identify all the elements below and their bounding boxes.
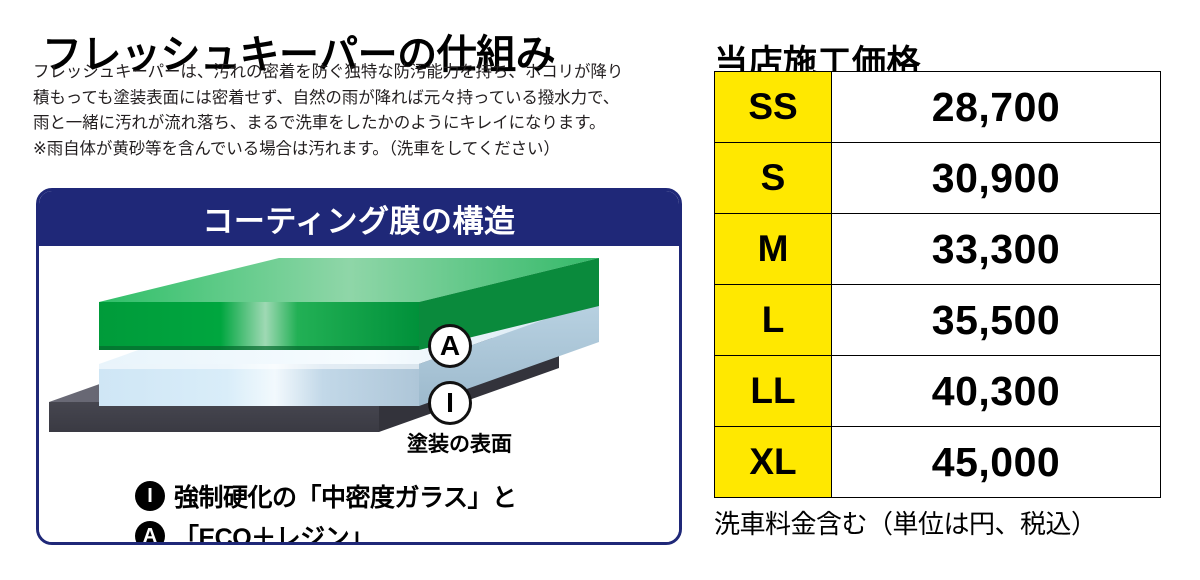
intro-line: 雨と一緒に汚れが流れ落ち、まるで洗車をしたかのようにキレイになります。 — [33, 111, 693, 137]
table-row: M 33,300 — [715, 214, 1161, 285]
table-row: SS 28,700 — [715, 72, 1161, 143]
size-cell: M — [715, 214, 832, 285]
price-cell: 45,000 — [832, 427, 1161, 498]
size-cell: L — [715, 285, 832, 356]
right-column: 当店施工価格 SS 28,700 S 30,900 M 33,300 L 35,… — [700, 0, 1200, 580]
price-cell: 30,900 — [832, 143, 1161, 214]
layer-badge-a: A — [428, 324, 472, 368]
base-surface-label: 塗装の表面 — [407, 428, 512, 458]
left-column: フレッシュキーパーの仕組み フレッシュキーパーは、汚れの密着を防ぐ独特な防汚能力… — [0, 0, 700, 580]
size-cell: SS — [715, 72, 832, 143]
intro-paragraph: フレッシュキーパーは、汚れの密着を防ぐ独特な防汚能力を持ち、ホコリが降り 積もっ… — [33, 60, 693, 162]
legend: I 強制硬化の「中密度ガラス」と A 「ECO＋レジン」 — [135, 478, 675, 545]
legend-item-label: 強制硬化の「中密度ガラス」と — [174, 478, 517, 514]
price-cell: 40,300 — [832, 356, 1161, 427]
legend-item: I 強制硬化の「中密度ガラス」と — [135, 478, 675, 514]
price-cell: 28,700 — [832, 72, 1161, 143]
price-cell: 35,500 — [832, 285, 1161, 356]
size-cell: LL — [715, 356, 832, 427]
legend-item-label: 「ECO＋レジン」 — [174, 518, 374, 545]
table-row: L 35,500 — [715, 285, 1161, 356]
intro-line: ※雨自体が黄砂等を含んでいる場合は汚れます。（洗車をしてください） — [33, 137, 693, 163]
intro-line: 積もっても塗装表面には密着せず、自然の雨が降れば元々持っている撥水力で、 — [33, 86, 693, 112]
size-cell: S — [715, 143, 832, 214]
panel-header: コーティング膜の構造 — [39, 191, 679, 246]
legend-item: A 「ECO＋レジン」 — [135, 518, 675, 545]
size-cell: XL — [715, 427, 832, 498]
coating-structure-panel: コーティング膜の構造 — [36, 188, 682, 545]
table-row: LL 40,300 — [715, 356, 1161, 427]
table-row: S 30,900 — [715, 143, 1161, 214]
price-cell: 33,300 — [832, 214, 1161, 285]
intro-line: フレッシュキーパーは、汚れの密着を防ぐ独特な防汚能力を持ち、ホコリが降り — [33, 60, 693, 86]
panel-body: A I 塗装の表面 I 強制硬化の「中密度ガラス」と A 「ECO＋レジン」 — [39, 246, 679, 542]
price-note: 洗車料金含む（単位は円、税込） — [714, 504, 1097, 541]
layer-badge-i: I — [428, 381, 472, 425]
legend-bullet-a-icon: A — [135, 521, 165, 545]
price-table: SS 28,700 S 30,900 M 33,300 L 35,500 LL … — [714, 71, 1161, 498]
table-row: XL 45,000 — [715, 427, 1161, 498]
legend-bullet-i-icon: I — [135, 481, 165, 511]
coating-stack-diagram — [39, 246, 679, 476]
